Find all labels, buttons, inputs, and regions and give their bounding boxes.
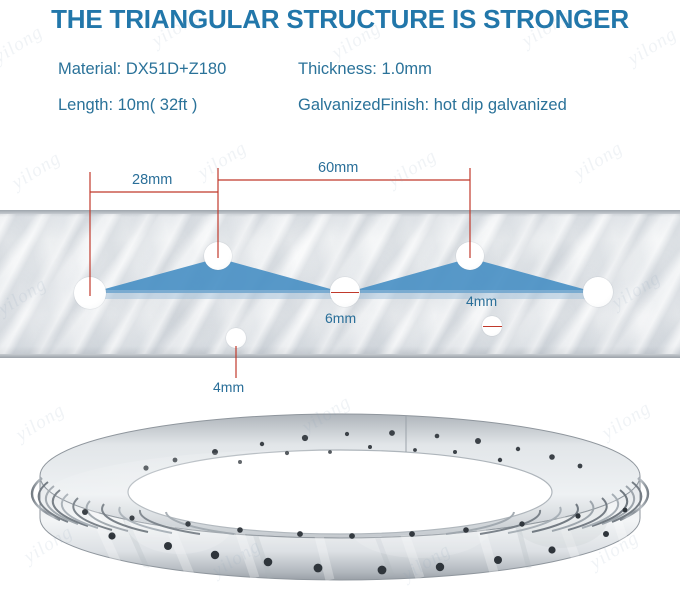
spec-length: Length: 10m( 32ft )	[58, 94, 298, 116]
page-title: THE TRIANGULAR STRUCTURE IS STRONGER	[0, 0, 680, 36]
dimension-lines	[0, 150, 680, 400]
dimension-label-60mm: 60mm	[318, 160, 358, 176]
infographic-page: THE TRIANGULAR STRUCTURE IS STRONGER Mat…	[0, 0, 680, 593]
coiled-strap-illustration	[0, 400, 680, 593]
dimension-label-28mm: 28mm	[132, 172, 172, 188]
spec-finish: GalvanizedFinish: hot dip galvanized	[298, 94, 658, 116]
hole-size-label-4mm-bottom: 4mm	[213, 379, 244, 395]
spec-material: Material: DX51D+Z180	[58, 58, 298, 80]
spec-row: Length: 10m( 32ft ) GalvanizedFinish: ho…	[58, 94, 680, 116]
hole-size-label-6mm: 6mm	[325, 310, 356, 326]
spec-thickness: Thickness: 1.0mm	[298, 58, 658, 80]
header: THE TRIANGULAR STRUCTURE IS STRONGER Mat…	[0, 0, 680, 130]
spec-row: Material: DX51D+Z180 Thickness: 1.0mm	[58, 58, 680, 80]
product-photo	[0, 400, 680, 593]
hole-size-label-4mm-right: 4mm	[466, 293, 497, 309]
dimension-diagram: 28mm 60mm 6mm 4mm 4mm	[0, 150, 680, 400]
spec-list: Material: DX51D+Z180 Thickness: 1.0mm Le…	[0, 58, 680, 116]
